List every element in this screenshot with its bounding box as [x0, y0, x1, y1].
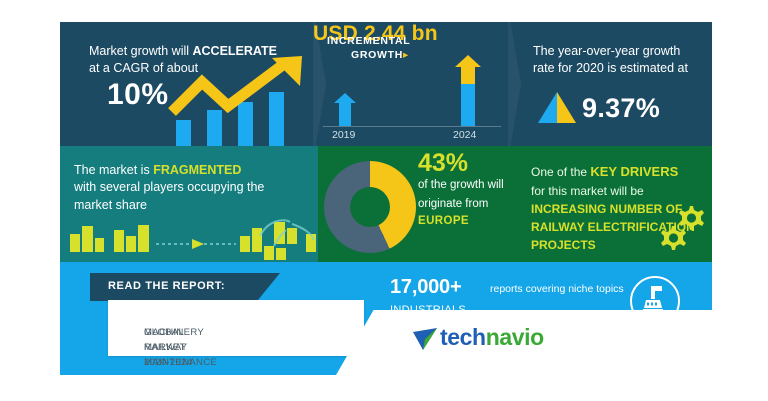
logo-text-tech: tech — [440, 324, 486, 350]
incremental-label-line1: INCREMENTAL — [327, 35, 410, 47]
bar-2024 — [461, 66, 475, 126]
technavio-plane-icon — [412, 326, 438, 352]
fragmented-text: The market is FRAGMENTED with several pl… — [74, 162, 314, 214]
bar-label-2024: 2024 — [453, 129, 476, 141]
panel-key-drivers: One of the KEY DRIVERS for this market w… — [513, 146, 712, 262]
drivers-line1-bold: KEY DRIVERS — [590, 164, 678, 179]
logo-text-navio: navio — [486, 324, 544, 350]
region-line2: originate from — [418, 195, 513, 214]
region-donut-chart — [324, 161, 416, 253]
gears-icon — [659, 204, 707, 252]
fragmented-text-bold: FRAGMENTED — [153, 163, 241, 177]
yoy-value: 9.37% — [582, 90, 660, 127]
growth-arrow-icon — [168, 56, 313, 118]
drivers-line1-pre: One of the — [531, 165, 590, 179]
read-the-report-label: READ THE REPORT: — [108, 280, 225, 292]
yoy-text: The year-over-year growth rate for 2020 … — [533, 43, 708, 78]
panel-fragmented-market: The market is FRAGMENTED with several pl… — [60, 146, 318, 262]
read-the-report-ribbon: READ THE REPORT: — [90, 273, 280, 301]
infographic-board: Market growth will ACCELERATE at a CAGR … — [60, 22, 712, 375]
yoy-text-line1: The year-over-year growth — [533, 44, 680, 58]
technavio-logo: technavio — [440, 324, 544, 351]
fragmented-text-pre: The market is — [74, 163, 153, 177]
cagr-value: 10% — [107, 74, 169, 115]
bar-label-2019: 2019 — [332, 129, 355, 141]
bar-1 — [176, 120, 191, 146]
region-value: 43% — [418, 150, 513, 176]
panel-region-share: 43% of the growth will originate from EU… — [318, 146, 513, 262]
bar-axis-line — [323, 126, 501, 127]
panel-yoy-growth: The year-over-year growth rate for 2020 … — [508, 22, 712, 146]
region-line1: of the growth will — [418, 176, 513, 195]
report-title-card[interactable]: GLOBAL RAILWAY MAINTENANCEMACHINERY MARK… — [108, 300, 364, 356]
reports-count: 17,000+ — [390, 276, 461, 299]
region-text: 43% of the growth will originate from EU… — [418, 150, 513, 229]
bar-2019 — [339, 102, 351, 126]
reports-caption: reports covering niche topics — [490, 283, 624, 295]
yoy-text-line2: rate for 2020 is estimated at — [533, 61, 688, 75]
divider-chevron-right — [508, 22, 521, 146]
drivers-line5: PROJECTS — [531, 238, 596, 252]
drivers-line2: for this market will be — [531, 184, 644, 198]
panel-incremental-growth: INCREMENTAL GROWTH▸ USD 2.44 bn 2019 202… — [313, 22, 508, 146]
region-name: EUROPE — [418, 214, 513, 230]
fragmented-text-line2: with several players occupying the — [74, 180, 264, 194]
bar-2024-increment — [461, 66, 475, 84]
infographic-root: Market growth will ACCELERATE at a CAGR … — [0, 0, 768, 401]
panel-footer: READ THE REPORT: GLOBAL RAILWAY MAINTENA… — [60, 262, 712, 375]
market-share-buildings-icon — [68, 208, 318, 260]
panel-market-growth: Market growth will ACCELERATE at a CAGR … — [60, 22, 313, 146]
